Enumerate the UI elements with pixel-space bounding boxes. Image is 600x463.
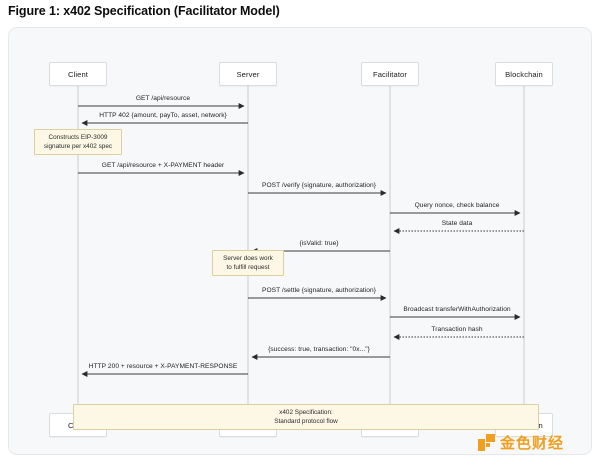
note-line: signature per x402 spec bbox=[44, 142, 112, 151]
actor-client-top[interactable]: Client bbox=[49, 62, 107, 86]
watermark-text: 金色财经 bbox=[500, 432, 564, 453]
message-label-2: GET /api/resource + X-PAYMENT header bbox=[102, 162, 224, 169]
message-label-3: POST /verify {signature, authorization} bbox=[262, 182, 376, 189]
message-label-6: {isValid: true} bbox=[299, 240, 338, 247]
summary-note-line: x402 Specification: bbox=[279, 408, 333, 417]
message-label-4: Query nonce, check balance bbox=[415, 202, 500, 209]
message-label-10: {success: true, transaction: "0x..."} bbox=[268, 346, 370, 353]
note-line: to fulfill request bbox=[227, 263, 270, 272]
screenshot-root: Figure 1: x402 Specification (Facilitato… bbox=[0, 0, 600, 463]
note-server-work: Server does workto fulfill request bbox=[212, 250, 284, 276]
note-client-eip3009: Constructs EIP-3009signature per x402 sp… bbox=[34, 129, 122, 155]
summary-note-line: Standard protocol flow bbox=[274, 417, 338, 426]
actor-label: Server bbox=[237, 70, 260, 79]
note-line: Server does work bbox=[223, 254, 273, 263]
message-label-7: POST /settle {signature, authorization} bbox=[262, 287, 376, 294]
sequence-diagram-card: ClientServerFacilitatorBlockchain Client… bbox=[8, 27, 592, 455]
message-label-11: HTTP 200 + resource + X-PAYMENT-RESPONSE bbox=[89, 363, 238, 370]
message-label-9: Transaction hash bbox=[431, 326, 482, 333]
actor-label: Facilitator bbox=[373, 70, 407, 79]
message-label-5: State data bbox=[442, 220, 473, 227]
note-summary: x402 Specification:Standard protocol flo… bbox=[73, 404, 539, 430]
actor-label: Client bbox=[68, 70, 88, 79]
actor-server-top[interactable]: Server bbox=[219, 62, 277, 86]
actor-blockchain-top[interactable]: Blockchain bbox=[495, 62, 553, 86]
watermark: 金色财经 bbox=[478, 432, 564, 453]
jinse-finance-logo-icon bbox=[478, 434, 495, 451]
actor-label: Blockchain bbox=[505, 70, 543, 79]
page-title: Figure 1: x402 Specification (Facilitato… bbox=[8, 4, 280, 18]
actor-facilitator-top[interactable]: Facilitator bbox=[361, 62, 419, 86]
message-label-8: Broadcast transferWithAuthorization bbox=[403, 306, 510, 313]
note-line: Constructs EIP-3009 bbox=[49, 133, 108, 142]
message-label-1: HTTP 402 {amount, payTo, asset, network} bbox=[99, 112, 227, 119]
message-label-0: GET /api/resource bbox=[136, 95, 190, 102]
